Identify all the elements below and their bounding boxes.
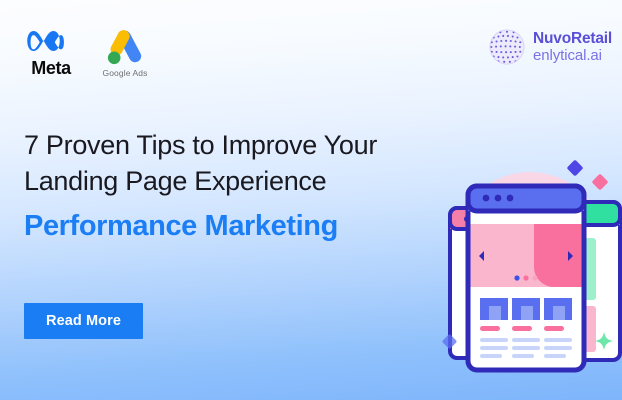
- headline-accent: Performance Marketing: [24, 207, 444, 246]
- dotted-globe-icon: [488, 28, 526, 66]
- google-ads-label: Google Ads: [103, 69, 148, 78]
- illustration-svg: [422, 150, 622, 400]
- pink-diamond-icon: [592, 174, 609, 191]
- carousel-dot[interactable]: [523, 275, 528, 280]
- carousel-dot[interactable]: [532, 275, 537, 280]
- promo-banner: Meta Google Ads: [0, 0, 622, 400]
- center-browser-window: [468, 186, 584, 370]
- center-window-dot: [507, 195, 514, 202]
- meta-infinity-icon: [26, 26, 76, 56]
- meta-logo: Meta: [22, 26, 80, 77]
- headline-line-2: Landing Page Experience: [24, 164, 444, 200]
- text-lines: [480, 338, 572, 358]
- headline-line-1: 7 Proven Tips to Improve Your: [24, 128, 444, 164]
- google-ads-icon: [102, 29, 148, 65]
- brand-subtitle: enlytical.ai: [533, 48, 612, 63]
- google-ads-logo: Google Ads: [94, 29, 156, 78]
- read-more-button[interactable]: Read More: [24, 303, 143, 339]
- meta-label: Meta: [31, 59, 70, 77]
- browser-windows-illustration: [422, 150, 622, 400]
- page-title: 7 Proven Tips to Improve Your Landing Pa…: [24, 128, 444, 245]
- carousel-dot-active[interactable]: [514, 275, 519, 280]
- hero-accent-shape: [534, 224, 582, 287]
- brand-name: NuvoRetail: [533, 31, 612, 47]
- brand-text: NuvoRetail enlytical.ai: [533, 31, 612, 63]
- headline-block: 7 Proven Tips to Improve Your Landing Pa…: [24, 128, 444, 245]
- brand-lockup: NuvoRetail enlytical.ai: [488, 28, 612, 66]
- partner-logos: Meta Google Ads: [22, 26, 156, 77]
- blue-diamond-icon: [567, 160, 584, 177]
- center-window-dot: [495, 195, 502, 202]
- center-window-dot: [483, 195, 490, 202]
